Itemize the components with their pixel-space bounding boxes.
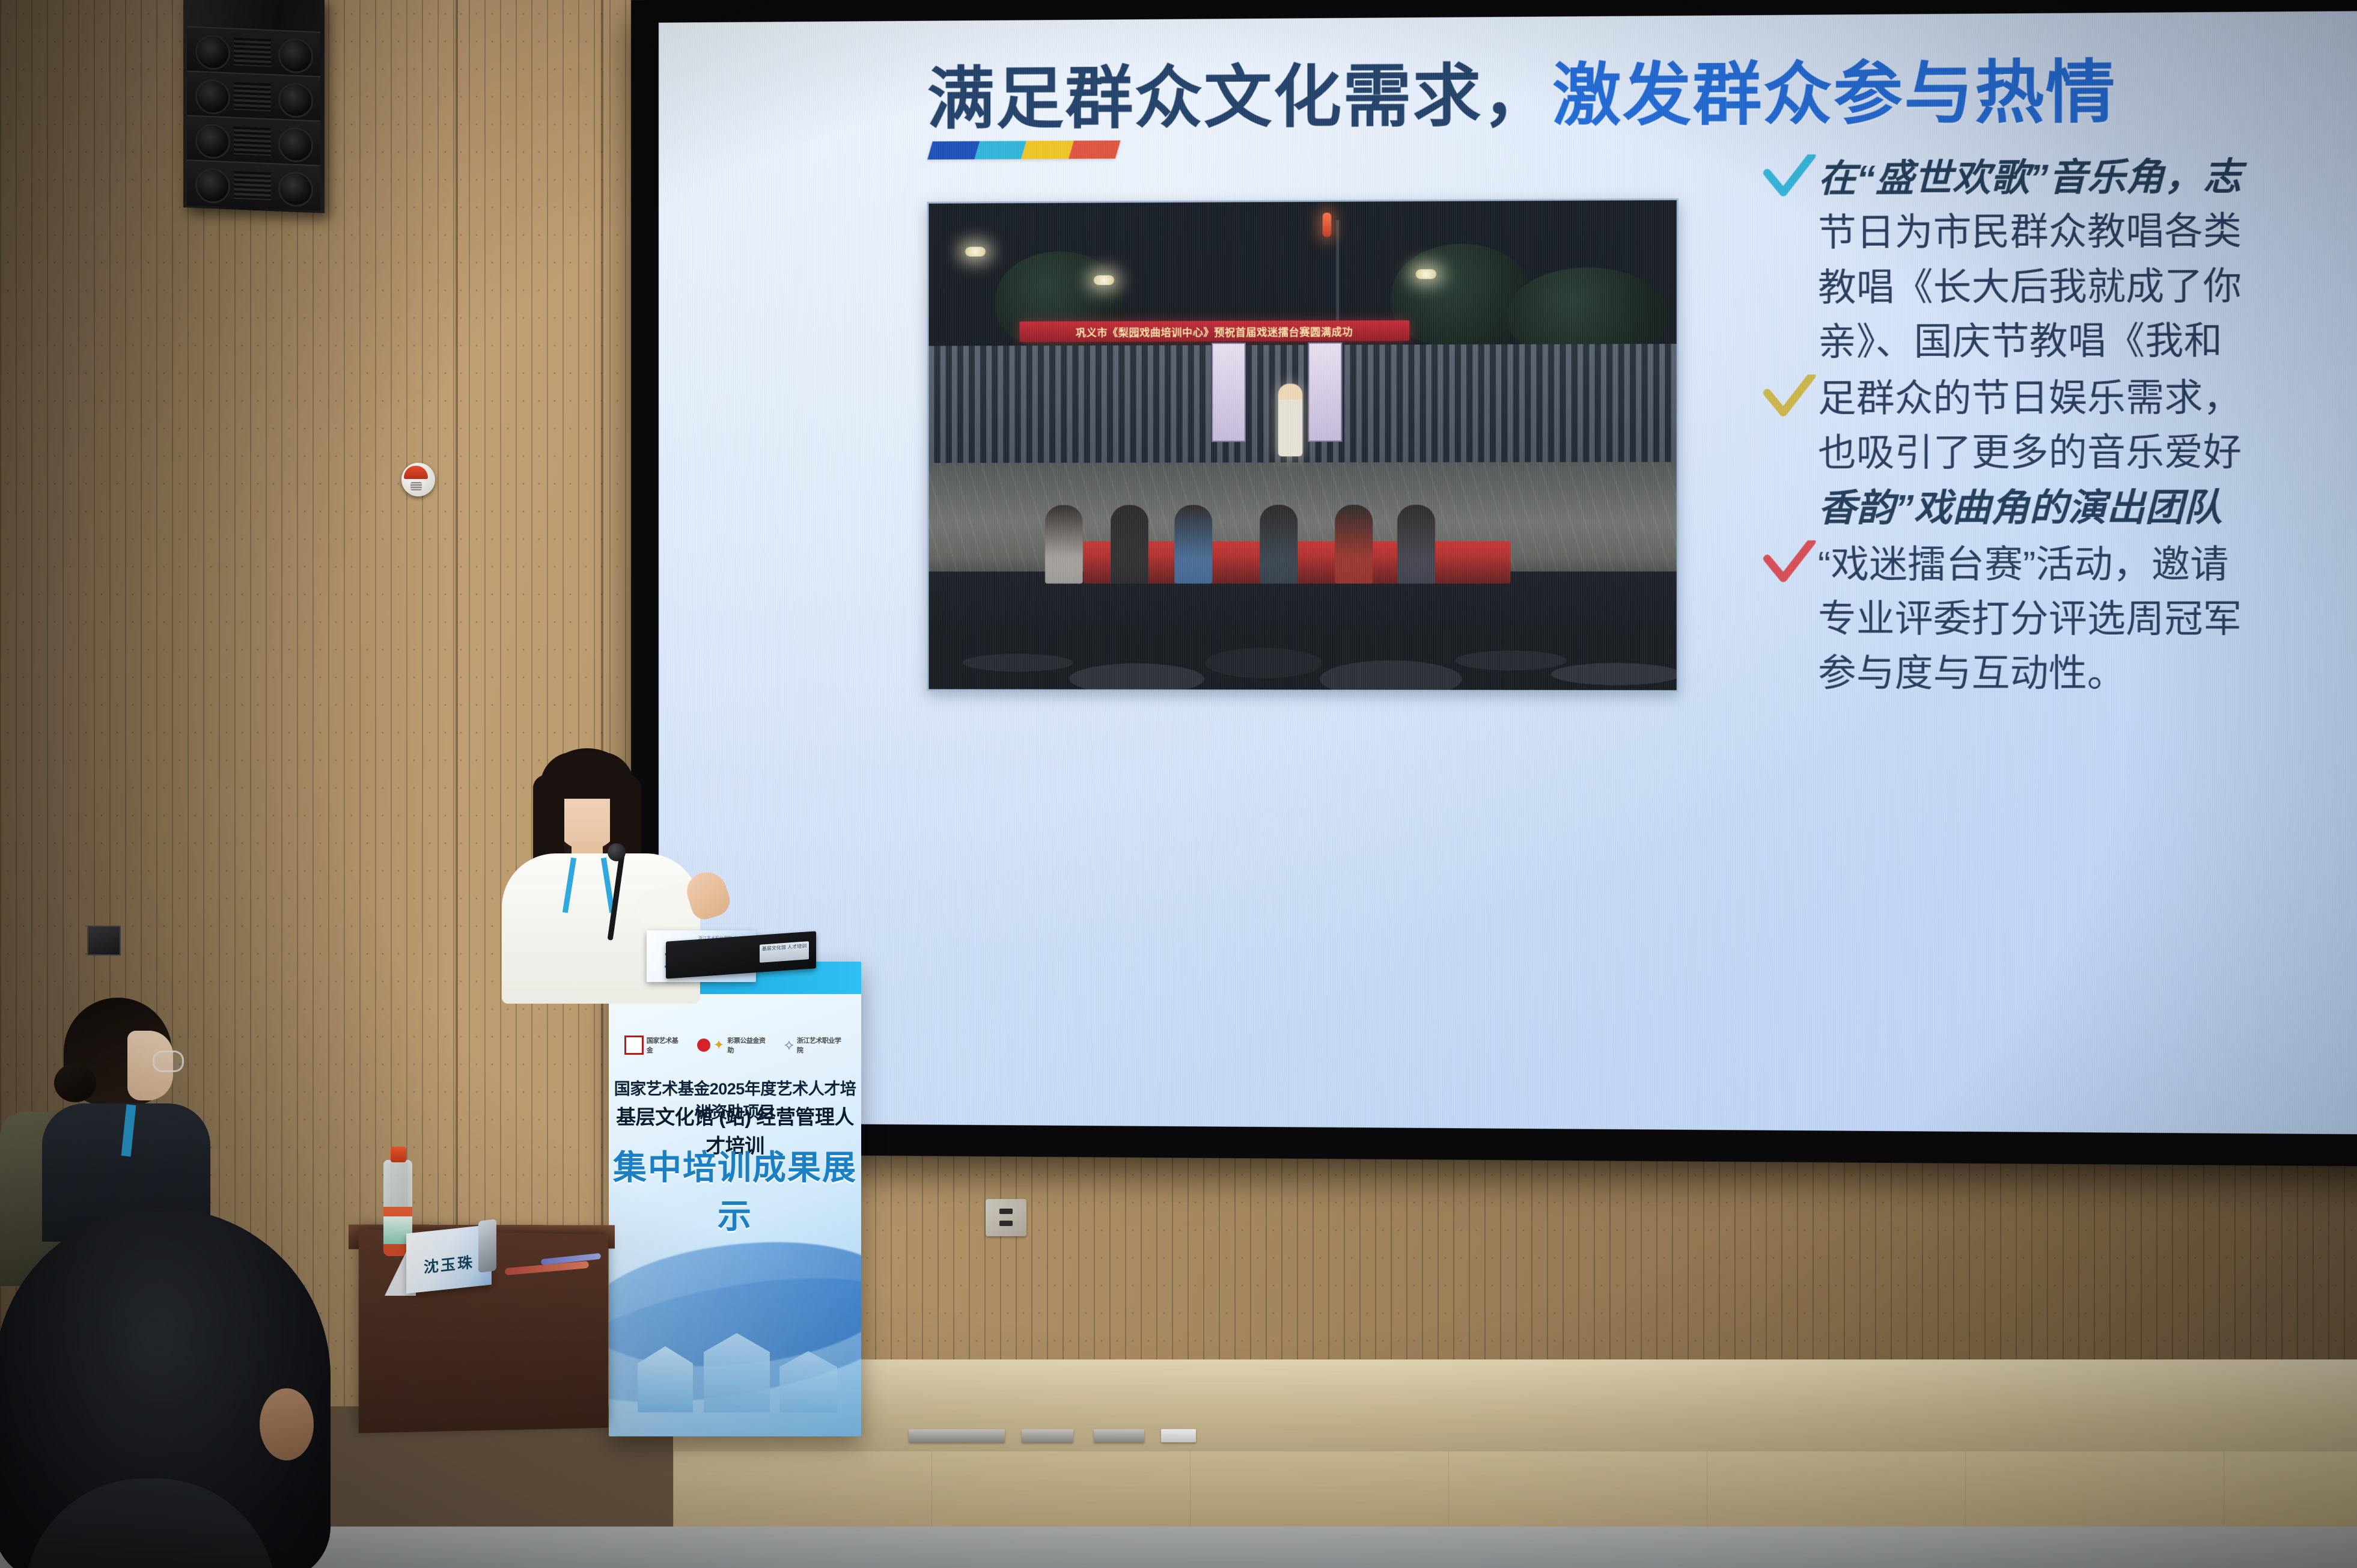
smartphone[interactable] — [478, 1219, 496, 1273]
bullet-line: 足群众的节日娱乐需求， — [1818, 371, 2357, 427]
stage-floor-box — [1022, 1429, 1073, 1442]
bullet-line: 亲》、国庆节教唱《我和 — [1818, 313, 2357, 370]
logo-label: 彩票公益金资助 — [727, 1036, 771, 1055]
bullet-line: 教唱《长大后我就成了你 — [1818, 258, 2357, 315]
bullet-item: 足群众的节日娱乐需求， 也吸引了更多的音乐爱好 香韵”戏曲角的演出团队 — [1761, 371, 2357, 535]
projection-screen-frame: 满足群众文化需求，激发群众参与热情 巩义市《梨园戏曲培训中心 — [631, 0, 2357, 1167]
auditorium-floor — [0, 1527, 2357, 1568]
logo-label: 国家艺术基金 — [647, 1036, 684, 1055]
slide-photo: 巩义市《梨园戏曲培训中心》预祝首届戏迷擂台赛圆满成功 — [927, 198, 1678, 692]
check-icon — [1761, 374, 1818, 422]
slide-title-part1: 满足群众文化需求， — [927, 58, 1552, 137]
bullet-line: 节日为市民群众教唱各类 — [1818, 204, 2357, 261]
stage-platform-face — [673, 1451, 2357, 1530]
accent-swatch-red — [1069, 141, 1121, 159]
slide-title-part2: 激发群众参与热情 — [1552, 54, 2116, 133]
stage-floor-box — [909, 1429, 1005, 1442]
line-array-speaker — [183, 0, 325, 213]
audience-member-seated — [42, 998, 198, 1214]
bullet-item: 在“盛世欢歌”音乐角，志 节日为市民群众教唱各类 教唱《长大后我就成了你 亲》、… — [1761, 149, 2357, 370]
check-icon — [1761, 540, 1818, 588]
podium-headline: 集中培训成果展示 — [609, 1141, 861, 1238]
photo-red-banner: 巩义市《梨园戏曲培训中心》预祝首届戏迷擂台赛圆满成功 — [1020, 320, 1410, 342]
bullet-line: 在“盛世欢歌”音乐角，志 — [1818, 156, 2242, 200]
screenshot-root: 满足群众文化需求，激发群众参与热情 巩义市《梨园戏曲培训中心 — [0, 0, 2357, 1568]
bullet-line: 参与度与互动性。 — [1818, 647, 2357, 702]
water-bottle-cap — [391, 1147, 406, 1162]
stage-floor-box — [1161, 1429, 1196, 1442]
accent-swatch-yellow — [1021, 141, 1073, 159]
lectern-podium: 国家艺术基金 ✦ 彩票公益金资助 ⟡ 浙江艺术职业学院 国家艺术基金2025年度… — [609, 962, 861, 1436]
wall-plate — [87, 926, 121, 956]
bullet-line: 也吸引了更多的音乐爱好 — [1818, 426, 2357, 481]
bullet-line: 香韵”戏曲角的演出团队 — [1818, 487, 2222, 529]
bullet-line: “戏迷擂台赛”活动，邀请 — [1818, 537, 2357, 592]
eyeglasses-icon — [153, 1051, 184, 1072]
bullet-item: “戏迷擂台赛”活动，邀请 专业评委打分评选周冠军 参与度与互动性。 — [1761, 537, 2357, 702]
wall-power-outlet — [986, 1199, 1026, 1236]
wall-seam — [456, 0, 458, 1406]
zjaa-logo: ⟡ 浙江艺术职业学院 — [784, 1036, 847, 1055]
bullet-text: 在“盛世欢歌”音乐角，志 节日为市民群众教唱各类 教唱《长大后我就成了你 亲》、… — [1818, 149, 2357, 370]
fire-alarm-strobe-icon — [401, 463, 435, 496]
slide-title: 满足群众文化需求，激发群众参与热情 — [927, 37, 2116, 142]
laptop-sticker: 基层文化馆 人才培训 — [760, 941, 809, 963]
title-accent-bar — [927, 141, 1120, 160]
slide-bullet-list: 在“盛世欢歌”音乐角，志 节日为市民群众教唱各类 教唱《长大后我就成了你 亲》、… — [1761, 149, 2357, 705]
accent-swatch-blue — [927, 141, 980, 160]
stage-floor-box — [1094, 1429, 1144, 1442]
podium-logo-row: 国家艺术基金 ✦ 彩票公益金资助 ⟡ 浙江艺术职业学院 — [624, 1034, 847, 1057]
microphone-head-icon — [608, 843, 626, 861]
projection-screen: 满足群众文化需求，激发群众参与热情 巩义市《梨园戏曲培训中心 — [659, 11, 2357, 1135]
audience-ear — [260, 1388, 314, 1460]
wall-seam — [601, 0, 603, 1406]
check-icon — [1761, 154, 1818, 203]
bullet-text: “戏迷擂台赛”活动，邀请 专业评委打分评选周冠军 参与度与互动性。 — [1818, 537, 2357, 702]
logo-label: 浙江艺术职业学院 — [797, 1036, 847, 1055]
bullet-text: 足群众的节日娱乐需求， 也吸引了更多的音乐爱好 香韵”戏曲角的演出团队 — [1818, 371, 2357, 535]
national-arts-fund-logo: 国家艺术基金 — [624, 1036, 684, 1055]
accent-swatch-cyan — [974, 141, 1026, 159]
lottery-fund-logo: ✦ 彩票公益金资助 — [697, 1036, 771, 1055]
bullet-line: 专业评委打分评选周冠军 — [1818, 592, 2357, 647]
